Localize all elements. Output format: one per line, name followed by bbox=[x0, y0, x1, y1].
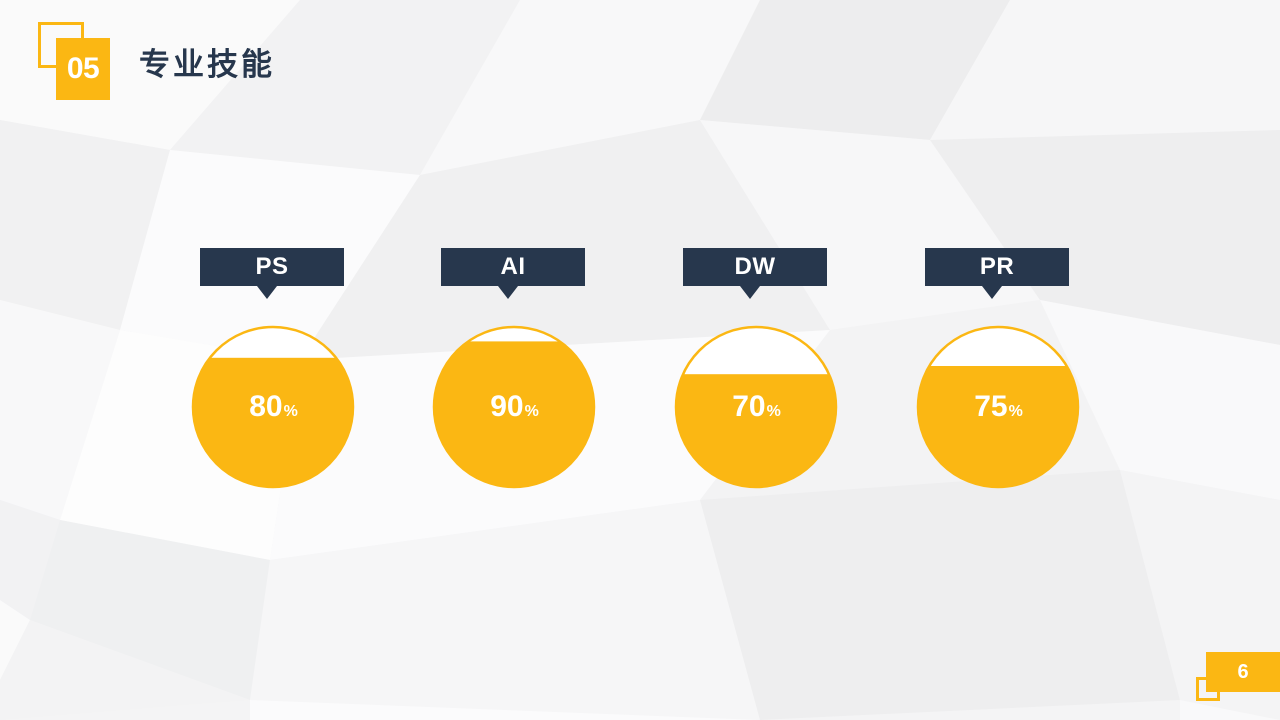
skill-label: PR bbox=[980, 253, 1014, 281]
gauge-liquid-fill-icon bbox=[191, 325, 355, 489]
skill-tag-pointer-icon bbox=[498, 286, 518, 299]
gauge-liquid-fill-icon bbox=[674, 325, 838, 489]
skill-gauge: 75 % bbox=[916, 325, 1080, 489]
page-title: 专业技能 bbox=[139, 49, 275, 80]
slide-header: 05 专业技能 bbox=[0, 0, 1280, 120]
skill-gauge: 90 % bbox=[432, 325, 596, 489]
skill-tag-pointer-icon bbox=[257, 286, 277, 299]
skill-tag-pointer-icon bbox=[740, 286, 760, 299]
gauge-liquid-fill-icon bbox=[916, 325, 1080, 489]
skill-item[interactable]: PS 80 % bbox=[151, 240, 393, 520]
skill-label: PS bbox=[255, 253, 288, 281]
skill-label: DW bbox=[735, 253, 776, 281]
slide-canvas: 05 专业技能 PS 80 % bbox=[0, 0, 1280, 720]
gauge-liquid-fill-icon bbox=[432, 325, 596, 489]
skill-item[interactable]: PR 75 % bbox=[876, 240, 1118, 520]
skill-item[interactable]: DW 70 % bbox=[634, 240, 876, 520]
skill-label: AI bbox=[501, 253, 526, 281]
section-number-logo: 05 bbox=[38, 22, 134, 94]
skill-label-tag[interactable]: AI bbox=[441, 248, 585, 286]
skill-gauge: 70 % bbox=[674, 325, 838, 489]
skill-gauge: 80 % bbox=[191, 325, 355, 489]
skill-label-tag[interactable]: PR bbox=[925, 248, 1069, 286]
skill-item[interactable]: AI 90 % bbox=[392, 240, 634, 520]
skill-label-tag[interactable]: DW bbox=[683, 248, 827, 286]
skills-list: PS 80 % AI bbox=[0, 240, 1280, 520]
section-number: 05 bbox=[56, 38, 110, 100]
page-number: 6 bbox=[1206, 652, 1280, 692]
skill-label-tag[interactable]: PS bbox=[200, 248, 344, 286]
page-number-badge: 6 bbox=[1196, 652, 1280, 692]
skill-tag-pointer-icon bbox=[982, 286, 1002, 299]
